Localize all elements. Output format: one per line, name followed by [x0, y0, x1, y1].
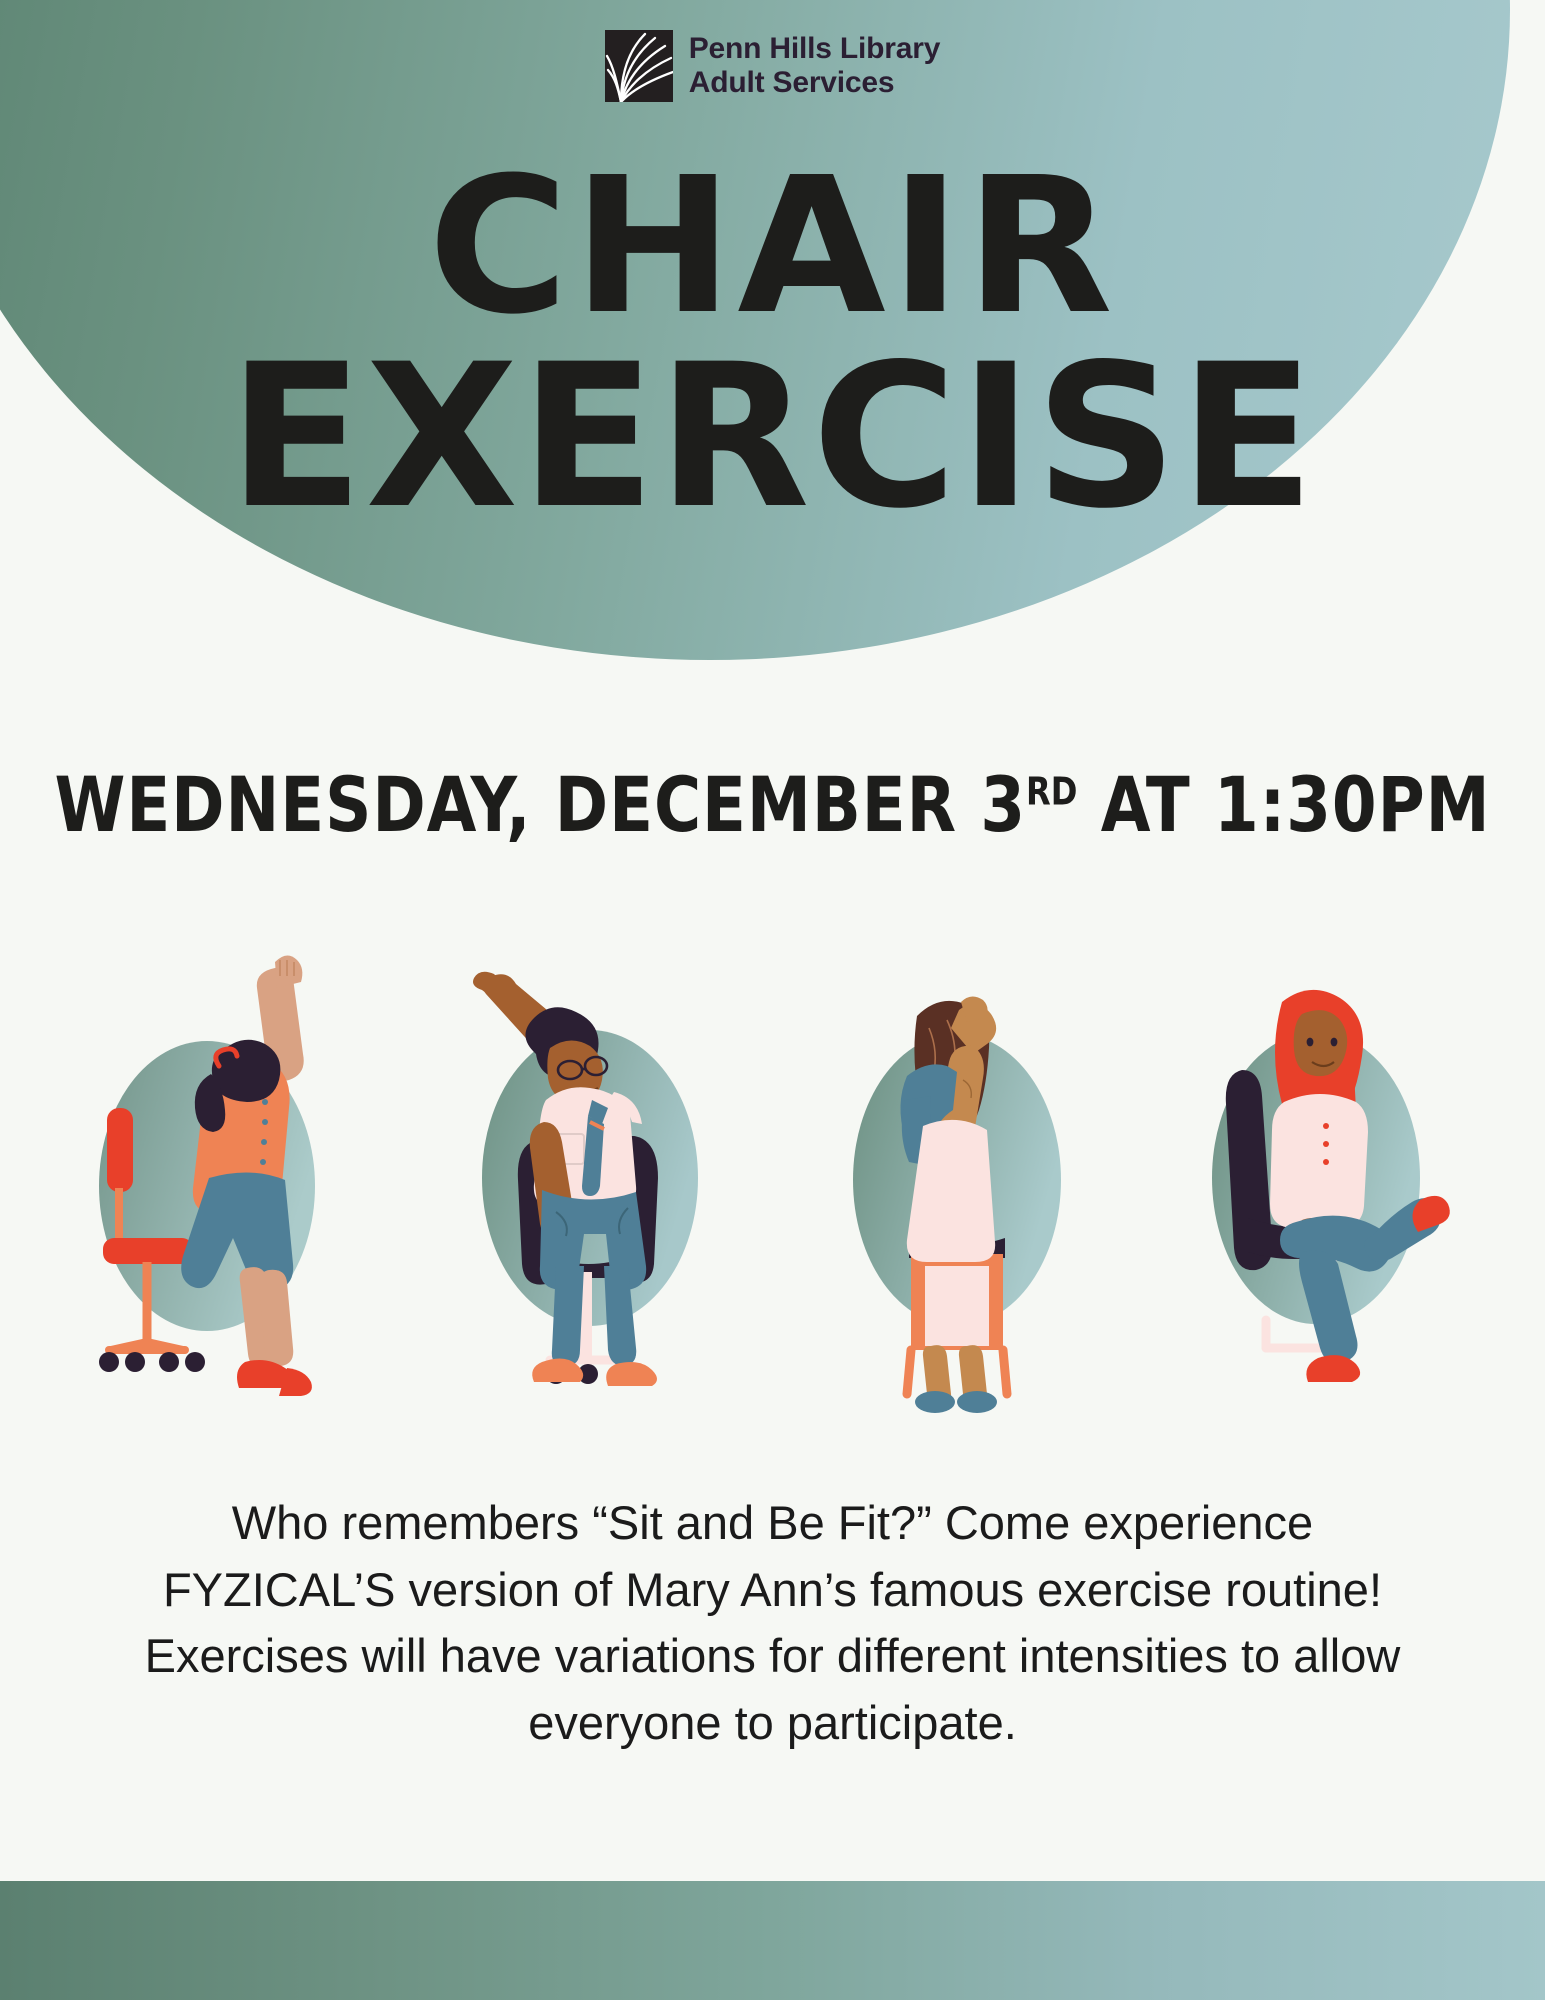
event-datetime-prefix: WEDNESDAY, DECEMBER 3	[54, 760, 1026, 849]
figure-2-graphic	[438, 950, 738, 1420]
event-datetime-ordinal: RD	[1026, 770, 1077, 814]
event-datetime-suffix: AT 1:30PM	[1077, 760, 1490, 849]
poster-canvas: Penn Hills Library Adult Services CHAIR …	[0, 0, 1545, 2000]
brand-line-2: Adult Services	[689, 66, 940, 100]
event-datetime: WEDNESDAY, DECEMBER 3RD AT 1:30PM	[46, 760, 1498, 849]
illustration-man-seated-side-stretch	[438, 950, 738, 1420]
event-description: Who remembers “Sit and Be Fit?” Come exp…	[110, 1490, 1435, 1757]
footer-gradient-bar	[0, 1881, 1545, 2000]
illustration-row	[0, 950, 1545, 1420]
title-line-2: EXERCISE	[0, 343, 1545, 531]
illustration-woman-back-overhead-stretch	[807, 950, 1107, 1420]
brand-line-1: Penn Hills Library	[689, 32, 940, 66]
figure-3-graphic	[807, 950, 1107, 1420]
page-title: CHAIR EXERCISE	[0, 160, 1545, 531]
brand-name: Penn Hills Library Adult Services	[689, 32, 940, 100]
open-book-logo-icon	[605, 30, 673, 102]
title-line-1: CHAIR	[0, 160, 1545, 335]
figure-1-graphic	[69, 950, 369, 1420]
brand-header: Penn Hills Library Adult Services	[0, 30, 1545, 102]
figure-4-graphic	[1176, 950, 1476, 1420]
illustration-woman-hijab-leg-extension	[1176, 950, 1476, 1420]
illustration-woman-standing-arm-raised	[69, 950, 369, 1420]
